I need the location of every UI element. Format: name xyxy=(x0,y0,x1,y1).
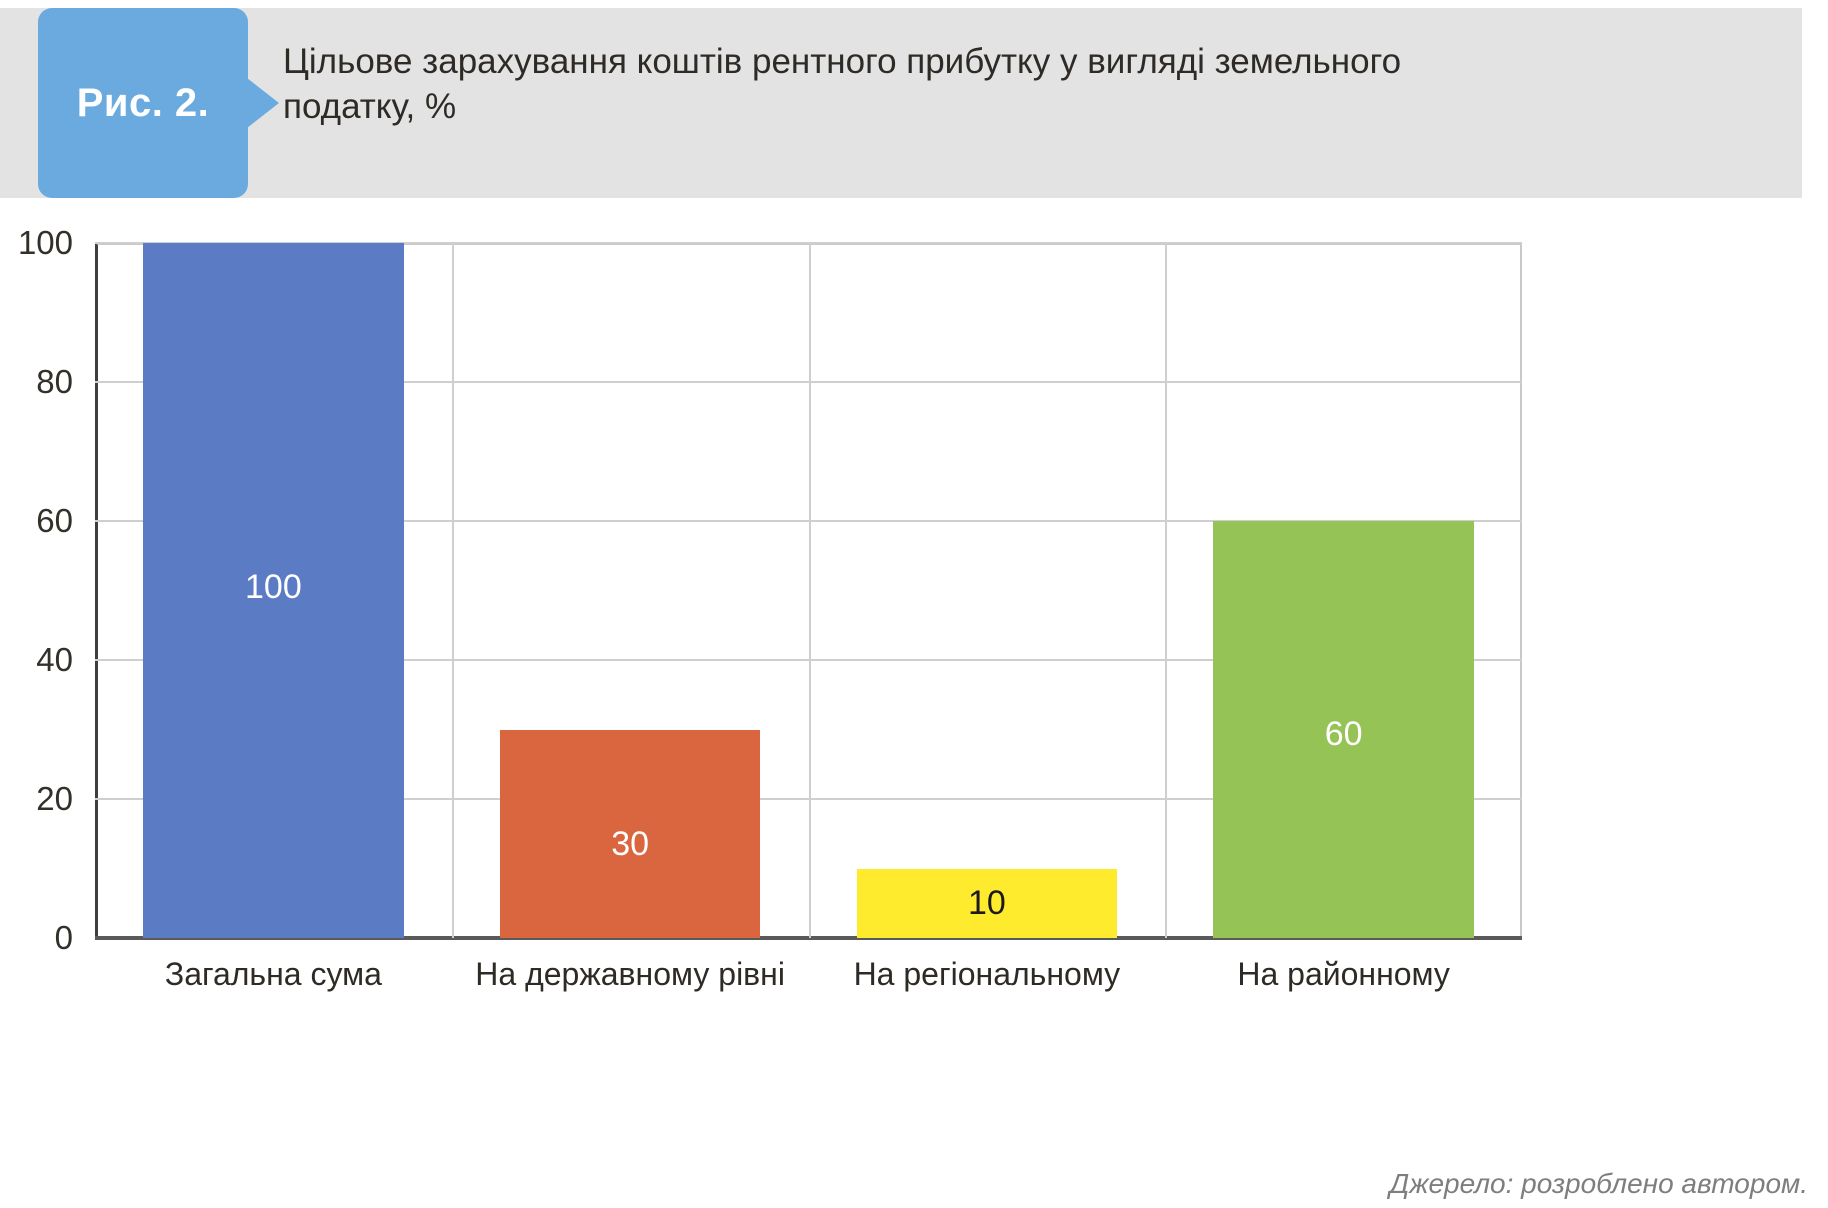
source-note: Джерело: розроблено автором. xyxy=(1389,1168,1808,1200)
figure-page: Рис. 2. Цільове зарахування коштів рентн… xyxy=(0,0,1828,1208)
badge-arrow-icon xyxy=(247,78,279,128)
y-axis-tick-label: 0 xyxy=(0,921,73,954)
x-axis-category-label: На регіональному xyxy=(809,958,1166,990)
bar-value-label: 10 xyxy=(857,886,1117,920)
bar-value-label: 60 xyxy=(1213,717,1473,751)
category-divider xyxy=(452,243,454,938)
bar-chart: 020406080100 100301060 Загальна сумаНа д… xyxy=(0,198,1828,1158)
bar-value-label: 30 xyxy=(500,827,760,861)
x-axis-category-label: Загальна сума xyxy=(95,958,452,990)
x-axis-category-label: На державному рівні xyxy=(452,958,809,990)
category-divider xyxy=(809,243,811,938)
x-axis-category-label: На районному xyxy=(1165,958,1522,990)
y-axis-tick-label: 40 xyxy=(0,643,73,676)
y-axis-tick-label: 100 xyxy=(0,226,73,259)
figure-number-label: Рис. 2. xyxy=(77,83,210,123)
figure-title: Цільове зарахування коштів рентного приб… xyxy=(283,40,1528,130)
y-axis-tick-label: 80 xyxy=(0,365,73,398)
y-axis-tick-label: 60 xyxy=(0,504,73,537)
figure-number-badge: Рис. 2. xyxy=(38,8,248,198)
bar-value-label: 100 xyxy=(143,570,403,604)
y-axis-tick-label: 20 xyxy=(0,782,73,815)
category-divider xyxy=(1165,243,1167,938)
